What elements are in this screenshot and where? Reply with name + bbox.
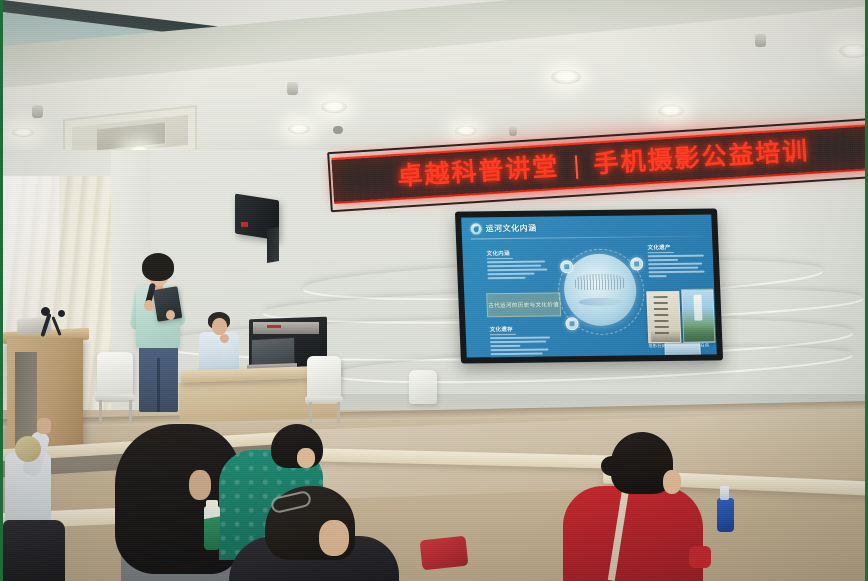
attendee-hand <box>37 418 51 434</box>
white-chair <box>409 370 437 404</box>
canal-logo-icon <box>470 223 481 234</box>
slide-block-lines <box>490 336 553 357</box>
lecture-hall-photo: 卓越科普讲堂 | 手机摄影公益培训 运河文化内涵 文化内涵 古代运河的历史与文化… <box>0 0 868 581</box>
bottle-cap <box>206 500 218 509</box>
downlight-icon <box>839 44 868 58</box>
slide-block-heading: 文化遗存 <box>489 325 513 333</box>
led-right-text: 手机摄影公益培训 <box>593 139 810 178</box>
slide-title-row: 运河文化内涵 <box>470 223 536 235</box>
presentation-screen: 运河文化内涵 文化内涵 古代运河的历史与文化价值 文化遗存 <box>455 208 723 363</box>
white-chair <box>97 352 133 396</box>
attendee-face <box>297 448 315 468</box>
led-separator: | <box>572 151 580 180</box>
slide-highlight-text: 古代运河的历史与文化价值 <box>488 300 559 309</box>
podium-microphone-head <box>58 310 65 317</box>
podium-microphone-head <box>41 307 50 316</box>
slide-block-heading: 文化内涵 <box>486 249 510 257</box>
slide-block-lines <box>487 261 548 282</box>
presenter-jeans <box>139 340 178 412</box>
downlight-icon <box>321 101 347 113</box>
slide-photo-caption: 白塔 <box>700 343 709 349</box>
downlight-icon <box>551 70 581 84</box>
presenter-right-hand <box>166 310 175 320</box>
sprinkler-head-icon <box>755 34 766 47</box>
av-rack-faceplate <box>253 322 319 334</box>
speaker-mount-arm <box>267 227 279 263</box>
operator-face <box>212 318 227 335</box>
slide: 运河文化内涵 文化内涵 古代运河的历史与文化价值 文化遗存 <box>461 215 717 358</box>
slide-photo-ink-pagoda <box>646 291 681 343</box>
speaker-logo-icon <box>241 222 248 227</box>
attendee-face <box>189 470 211 500</box>
attendee-hand <box>689 546 711 568</box>
sprinkler-head-icon <box>32 105 43 118</box>
downlight-icon <box>12 128 34 137</box>
attendee-head <box>15 436 41 462</box>
red-item-on-table <box>420 536 469 571</box>
slide-photo-caption: 塔影石刻 <box>648 343 666 349</box>
downlight-icon <box>288 124 310 134</box>
attendee-body <box>563 486 703 581</box>
chair-leg <box>99 400 102 424</box>
slide-block-heading: 文化遗产 <box>647 243 671 251</box>
slide-highlight-box: 古代运河的历史与文化价值 <box>486 292 561 317</box>
white-chair <box>307 356 341 398</box>
green-tea-bottle <box>204 506 220 550</box>
presenter-left-hand <box>144 300 154 311</box>
slide-badge-icon <box>630 257 644 270</box>
blue-can <box>717 498 734 532</box>
slide-title-rule <box>471 236 703 240</box>
attendee-face <box>663 470 681 494</box>
smoke-detector-icon <box>333 126 343 134</box>
chair-leg <box>337 402 340 424</box>
slide-badge-icon <box>560 260 574 273</box>
attendee-dark-bag <box>3 520 65 581</box>
attendee-face <box>319 520 349 556</box>
slide-photo-landscape <box>664 343 701 358</box>
slide-photo-white-pagoda <box>681 288 715 342</box>
slide-block-lines <box>648 255 707 280</box>
led-left-text: 卓越科普讲堂 <box>397 154 560 189</box>
attendee-hair-bun <box>601 456 623 476</box>
chair-leg <box>309 402 312 424</box>
sprinkler-head-icon <box>287 82 298 95</box>
slide-title: 运河文化内涵 <box>485 223 536 235</box>
operator-hand <box>220 334 229 343</box>
chair-leg <box>129 400 132 424</box>
av-rack-indicator <box>267 325 281 328</box>
can-straw <box>720 486 729 500</box>
slide-badge-icon <box>565 317 579 330</box>
presenter-hair <box>142 253 174 281</box>
